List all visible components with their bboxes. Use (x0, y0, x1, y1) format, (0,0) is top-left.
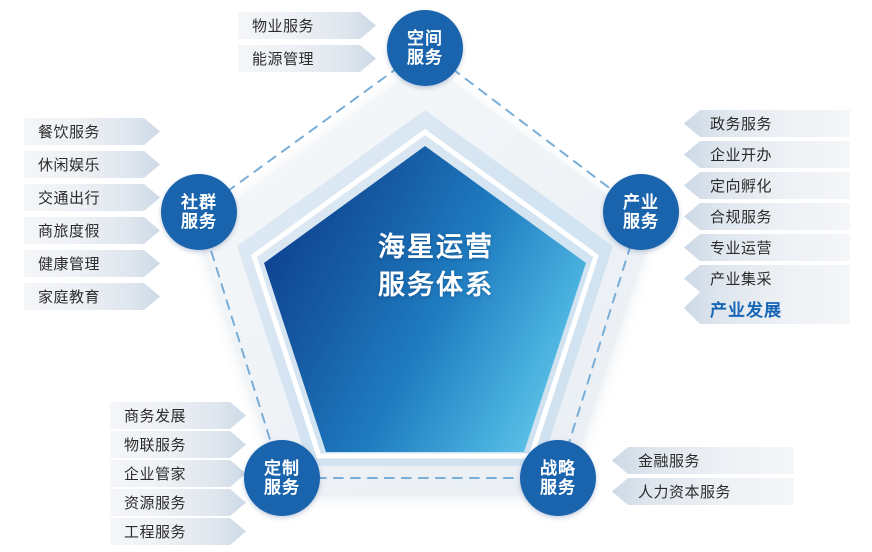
ribbon-space-0-label: 物业服务 (252, 15, 314, 36)
ribbon-custom-4-label: 工程服务 (124, 521, 186, 542)
node-custom-line2: 服务 (264, 478, 300, 497)
ribbon-custom-4[interactable]: 工程服务 (110, 518, 246, 545)
ribbon-custom-0-label: 商务发展 (124, 405, 186, 426)
node-community-line1: 社群 (181, 193, 217, 212)
node-industry[interactable]: 产业 服务 (603, 174, 679, 250)
ribbon-industry-1-label: 企业开办 (710, 144, 772, 165)
ribbon-community-1-label: 休闲娱乐 (38, 154, 100, 175)
ribbon-industry-footer-label: 产业发展 (710, 296, 782, 321)
ribbon-strategy-1-label: 人力资本服务 (638, 481, 731, 502)
ribbon-industry-2[interactable]: 定向孵化 (684, 172, 850, 199)
ribbon-community-4[interactable]: 健康管理 (24, 250, 160, 277)
ribbon-custom-2-label: 企业管家 (124, 463, 186, 484)
center-title-line1: 海星运营 (292, 228, 580, 266)
ribbon-space-0[interactable]: 物业服务 (238, 12, 376, 39)
ribbon-custom-3-label: 资源服务 (124, 492, 186, 513)
node-custom[interactable]: 定制 服务 (244, 440, 320, 516)
node-space-line1: 空间 (407, 29, 443, 48)
node-strategy-line2: 服务 (540, 478, 576, 497)
node-industry-line2: 服务 (623, 212, 659, 231)
ribbon-community-5[interactable]: 家庭教育 (24, 283, 160, 310)
ribbon-community-0[interactable]: 餐饮服务 (24, 118, 160, 145)
ribbon-industry-3[interactable]: 合规服务 (684, 203, 850, 230)
ribbon-industry-5[interactable]: 产业集采 (684, 265, 850, 292)
ribbon-space-1-label: 能源管理 (252, 48, 314, 69)
ribbon-industry-4-label: 专业运营 (710, 237, 772, 258)
ribbon-custom-1-label: 物联服务 (124, 434, 186, 455)
ribbon-industry-footer[interactable]: 产业发展 (684, 292, 850, 324)
ribbon-community-5-label: 家庭教育 (38, 286, 100, 307)
node-community-line2: 服务 (181, 212, 217, 231)
ribbon-industry-3-label: 合规服务 (710, 206, 772, 227)
ribbon-custom-1[interactable]: 物联服务 (110, 431, 246, 458)
ribbon-community-2[interactable]: 交通出行 (24, 184, 160, 211)
node-space[interactable]: 空间 服务 (387, 10, 463, 86)
ribbon-community-4-label: 健康管理 (38, 253, 100, 274)
ribbon-community-2-label: 交通出行 (38, 187, 100, 208)
ribbon-strategy-0-label: 金融服务 (638, 450, 700, 471)
node-space-line2: 服务 (407, 48, 443, 67)
infographic-canvas: 空间 服务 产业 服务 战略 服务 定制 服务 社群 服务 海星运营 服务体系 … (0, 0, 872, 552)
ribbon-community-0-label: 餐饮服务 (38, 121, 100, 142)
center-title-line2: 服务体系 (292, 266, 580, 304)
ribbon-space-1[interactable]: 能源管理 (238, 45, 376, 72)
ribbon-strategy-0[interactable]: 金融服务 (612, 447, 794, 474)
ribbon-community-1[interactable]: 休闲娱乐 (24, 151, 160, 178)
node-custom-line1: 定制 (264, 459, 300, 478)
ribbon-strategy-1[interactable]: 人力资本服务 (612, 478, 794, 505)
ribbon-custom-0[interactable]: 商务发展 (110, 402, 246, 429)
ribbon-community-3[interactable]: 商旅度假 (24, 217, 160, 244)
ribbon-custom-3[interactable]: 资源服务 (110, 489, 246, 516)
ribbon-industry-4[interactable]: 专业运营 (684, 234, 850, 261)
center-title: 海星运营 服务体系 (292, 228, 580, 304)
ribbon-industry-1[interactable]: 企业开办 (684, 141, 850, 168)
ribbon-industry-5-label: 产业集采 (710, 268, 772, 289)
ribbon-industry-0-label: 政务服务 (710, 113, 772, 134)
node-strategy-line1: 战略 (540, 459, 576, 478)
node-strategy[interactable]: 战略 服务 (520, 440, 596, 516)
node-community[interactable]: 社群 服务 (161, 174, 237, 250)
ribbon-industry-2-label: 定向孵化 (710, 175, 772, 196)
ribbon-community-3-label: 商旅度假 (38, 220, 100, 241)
ribbon-industry-0[interactable]: 政务服务 (684, 110, 850, 137)
node-industry-line1: 产业 (623, 193, 659, 212)
ribbon-custom-2[interactable]: 企业管家 (110, 460, 246, 487)
